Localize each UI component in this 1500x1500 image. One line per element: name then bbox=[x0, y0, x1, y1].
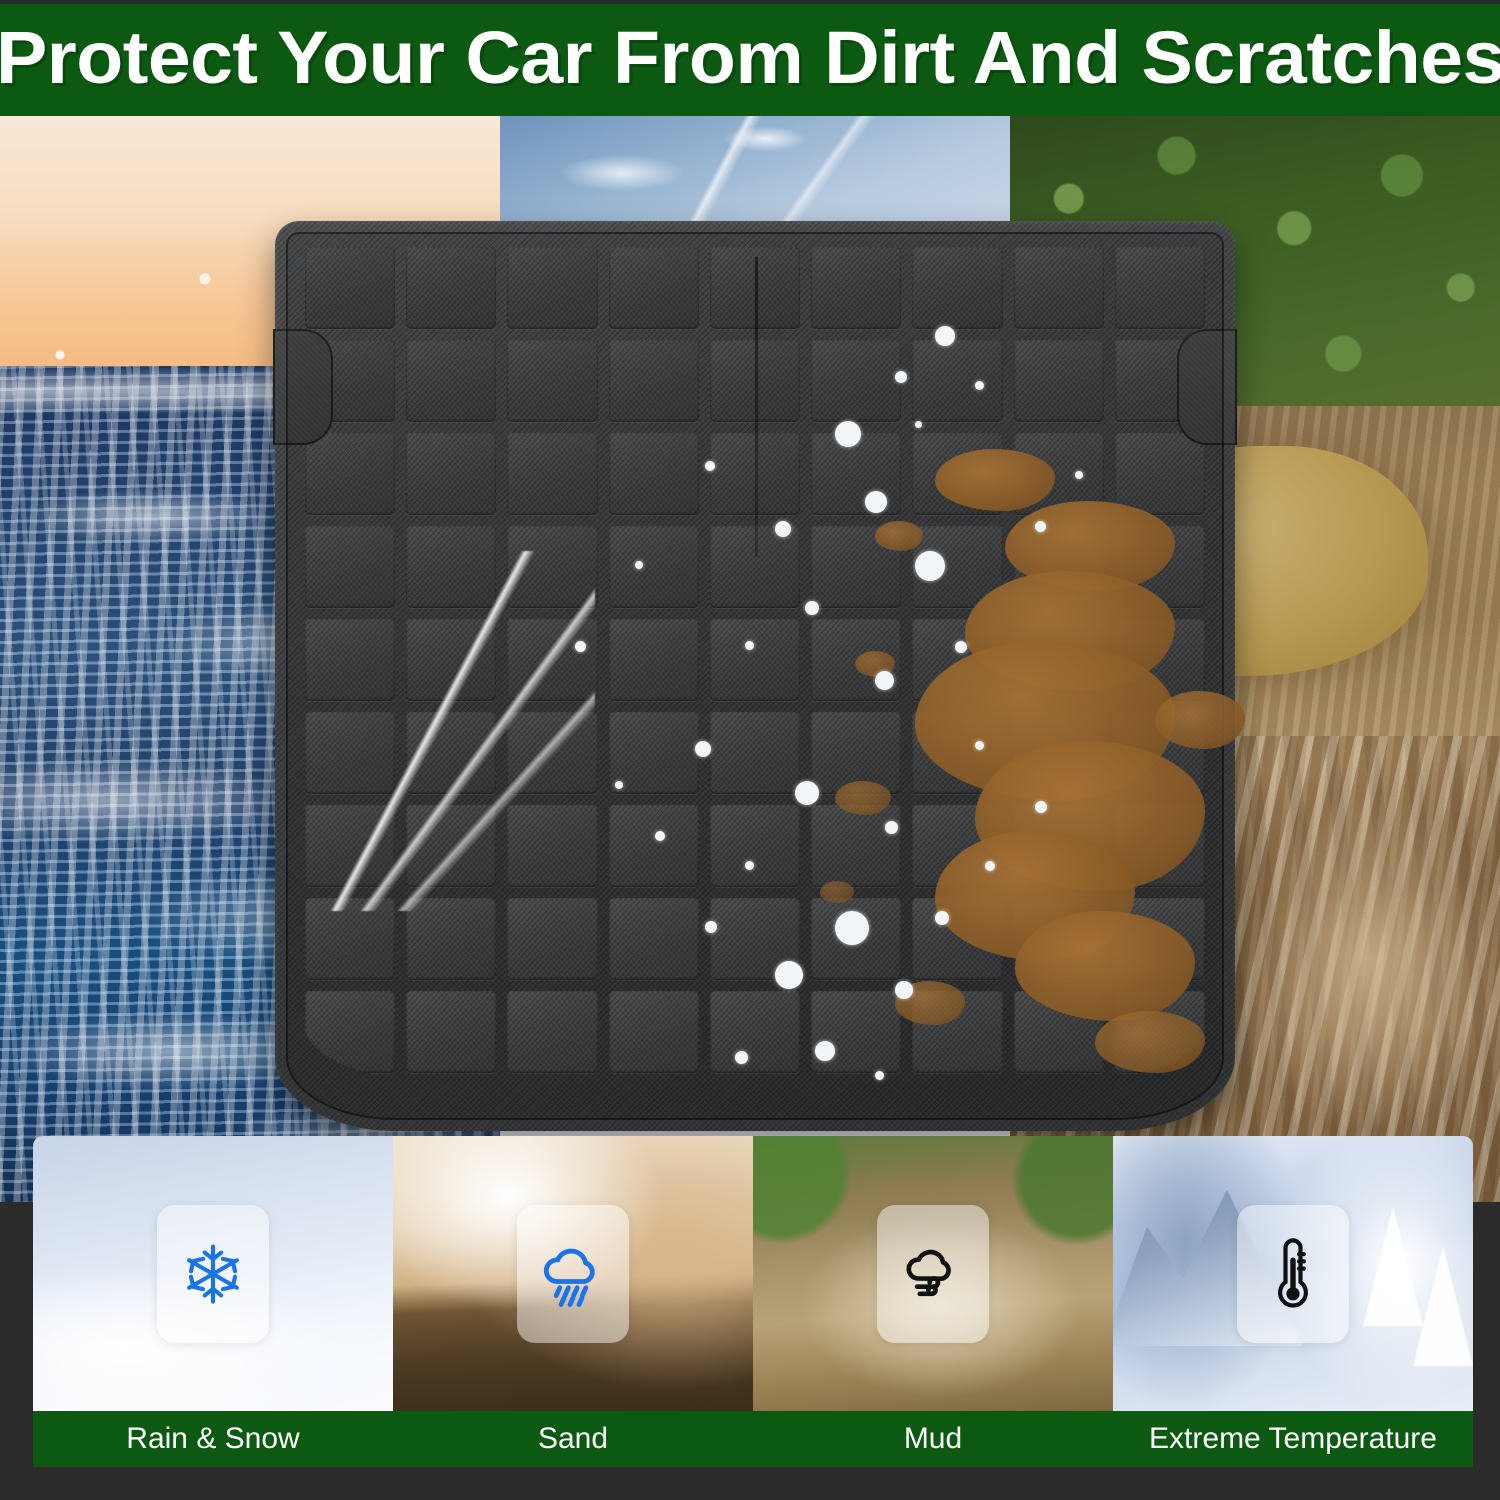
feature-card-sand[interactable] bbox=[393, 1136, 753, 1411]
mat-pad bbox=[1115, 712, 1205, 794]
mat-pad bbox=[1115, 898, 1205, 980]
feature-label-rain-snow: Rain & Snow bbox=[126, 1422, 299, 1456]
frame-bottom bbox=[0, 1467, 1500, 1500]
mat-pad bbox=[609, 340, 699, 422]
feature-label-mud: Mud bbox=[904, 1422, 962, 1456]
feature-label-extreme-temperature: Extreme Temperature bbox=[1149, 1422, 1437, 1456]
mat-pad bbox=[1115, 805, 1205, 887]
mat-pad bbox=[912, 619, 1002, 701]
frame-left bbox=[0, 1202, 33, 1500]
snowflake-icon bbox=[180, 1241, 246, 1307]
mat-pad bbox=[710, 619, 800, 701]
header-banner: Protect Your Car From Dirt And Scratches bbox=[0, 0, 1500, 116]
mat-pad bbox=[811, 526, 901, 608]
feature-card-rain-snow[interactable] bbox=[33, 1136, 393, 1411]
mat-pad bbox=[406, 340, 496, 422]
mat-pad bbox=[811, 247, 901, 329]
mat-pad bbox=[912, 805, 1002, 887]
mat-pad bbox=[609, 247, 699, 329]
mat-pad bbox=[406, 433, 496, 515]
mat-pad bbox=[507, 991, 597, 1073]
product-image-cargo-mat bbox=[275, 221, 1235, 1131]
mat-pad bbox=[609, 805, 699, 887]
hero-section: All Weather Protection bbox=[0, 116, 1500, 1202]
mat-pad bbox=[609, 619, 699, 701]
mat-pad bbox=[912, 898, 1002, 980]
mat-pad bbox=[912, 247, 1002, 329]
mat-pad bbox=[912, 526, 1002, 608]
icon-plate bbox=[157, 1205, 269, 1343]
frame-top bbox=[0, 0, 1500, 4]
feature-label-cell: Extreme Temperature bbox=[1113, 1411, 1473, 1467]
mat-pad bbox=[406, 247, 496, 329]
thermometer-icon bbox=[1272, 1233, 1314, 1315]
mat-pad bbox=[1014, 712, 1104, 794]
mat-pad bbox=[811, 619, 901, 701]
icon-plate bbox=[1237, 1205, 1349, 1343]
mat-pad bbox=[710, 805, 800, 887]
mat-pad bbox=[912, 991, 1002, 1073]
mat-pad bbox=[710, 712, 800, 794]
mat-pad bbox=[406, 991, 496, 1073]
snowy-tree bbox=[1413, 1246, 1473, 1366]
mat-pad bbox=[811, 805, 901, 887]
feature-card-extreme-temperature[interactable] bbox=[1113, 1136, 1473, 1411]
mat-pad bbox=[811, 340, 901, 422]
mat-pad bbox=[912, 433, 1002, 515]
mat-pad bbox=[1014, 247, 1104, 329]
mat-pad bbox=[1115, 526, 1205, 608]
mat-pad bbox=[507, 340, 597, 422]
mat-pad bbox=[912, 340, 1002, 422]
mat-pad bbox=[1014, 805, 1104, 887]
feature-label-sand: Sand bbox=[538, 1422, 608, 1456]
mat-pad bbox=[305, 433, 395, 515]
mat-pad bbox=[811, 898, 901, 980]
mat-pad bbox=[811, 433, 901, 515]
mat-pad bbox=[305, 247, 395, 329]
mat-pad bbox=[811, 991, 901, 1073]
mat-pad bbox=[710, 898, 800, 980]
icon-plate bbox=[517, 1205, 629, 1343]
mat-side-notch-right bbox=[1177, 329, 1237, 445]
mat-pad bbox=[1014, 619, 1104, 701]
feature-label-cell: Rain & Snow bbox=[33, 1411, 393, 1467]
water-jet-streak bbox=[295, 551, 595, 911]
mat-pad bbox=[305, 991, 395, 1073]
feature-label-bar: Rain & Snow Sand Mud Extreme Temperature bbox=[33, 1411, 1473, 1467]
mat-pad bbox=[1014, 340, 1104, 422]
mat-pad bbox=[1115, 433, 1205, 515]
rain-cloud-icon bbox=[537, 1238, 609, 1310]
feature-card-mud[interactable] bbox=[753, 1136, 1113, 1411]
feature-thumbnail-strip bbox=[33, 1136, 1473, 1411]
mat-pad bbox=[609, 712, 699, 794]
product-infographic: Protect Your Car From Dirt And Scratches bbox=[0, 0, 1500, 1500]
icon-plate bbox=[877, 1205, 989, 1343]
mat-pad bbox=[811, 712, 901, 794]
mat-pad bbox=[609, 526, 699, 608]
mat-center-seam bbox=[755, 257, 758, 557]
mat-side-notch-left bbox=[273, 329, 333, 445]
dry-sand-patch bbox=[1240, 796, 1500, 1126]
mat-pad bbox=[609, 898, 699, 980]
feature-label-cell: Mud bbox=[753, 1411, 1113, 1467]
frame-right bbox=[1473, 1202, 1500, 1500]
mat-pad bbox=[1115, 619, 1205, 701]
mat-pad bbox=[1115, 991, 1205, 1073]
mat-pad bbox=[912, 712, 1002, 794]
mat-pad bbox=[1014, 898, 1104, 980]
mat-pad bbox=[507, 433, 597, 515]
feature-label-cell: Sand bbox=[393, 1411, 753, 1467]
page-title: Protect Your Car From Dirt And Scratches bbox=[0, 21, 1500, 95]
mat-pad bbox=[1014, 433, 1104, 515]
mat-pad bbox=[710, 991, 800, 1073]
mat-pad bbox=[1014, 526, 1104, 608]
mat-pad bbox=[609, 433, 699, 515]
mat-pad bbox=[1014, 991, 1104, 1073]
wind-cloud-icon bbox=[897, 1241, 969, 1307]
mat-pad bbox=[507, 247, 597, 329]
mat-pad bbox=[609, 991, 699, 1073]
mat-pad bbox=[1115, 247, 1205, 329]
